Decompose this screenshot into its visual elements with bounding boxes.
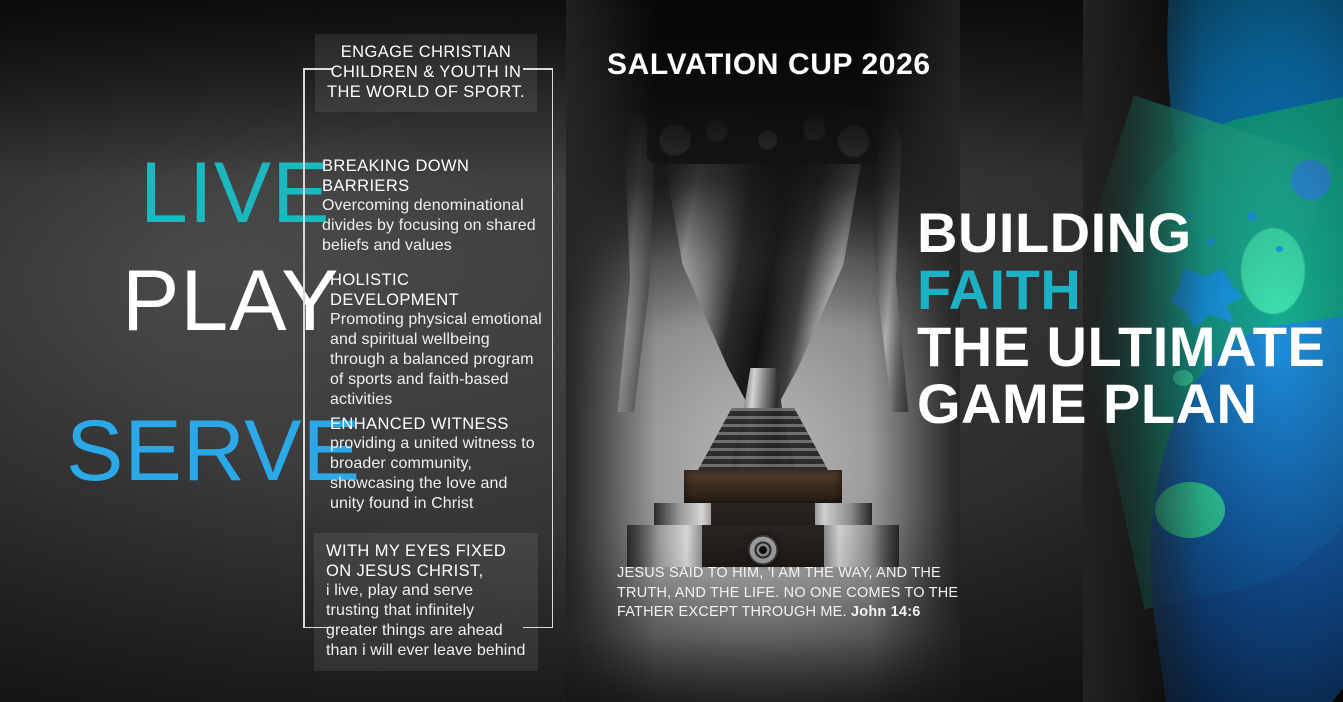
pillar-block-barriers: BREAKING DOWN BARRIERS Overcoming denomi… xyxy=(308,148,552,266)
pillar-block-holistic: HOLISTIC DEVELOPMENT Promoting physical … xyxy=(316,262,554,420)
keyword-play: PLAY xyxy=(122,258,340,344)
headline-line-1: BUILDING xyxy=(917,204,1325,261)
headline-line-4: GAME PLAN xyxy=(917,375,1325,432)
paint-blob xyxy=(1291,160,1331,200)
verse-reference: John 14:6 xyxy=(851,604,921,620)
mission-statement-block: ENGAGE CHRISTIAN CHILDREN & YOUTH IN THE… xyxy=(315,34,537,112)
slide-canvas: LIVE PLAY SERVE ENGAGE CHRISTIAN CHILDRE… xyxy=(0,0,1343,702)
pledge-heading: WITH MY EYES FIXED ON JESUS CHRIST, xyxy=(326,541,526,581)
headline-line-3: THE ULTIMATE xyxy=(917,318,1325,375)
headline-block: BUILDING FAITH THE ULTIMATE GAME PLAN xyxy=(917,204,1325,432)
keyword-live: LIVE xyxy=(140,150,330,236)
pillar-body: Overcoming denominational divides by foc… xyxy=(322,196,540,256)
page-title: SALVATION CUP 2026 xyxy=(607,48,931,82)
personal-pledge-block: WITH MY EYES FIXED ON JESUS CHRIST, i li… xyxy=(314,533,538,671)
mission-statement-heading: ENGAGE CHRISTIAN CHILDREN & YOUTH IN THE… xyxy=(327,42,525,102)
pillar-heading: HOLISTIC DEVELOPMENT xyxy=(330,270,542,310)
pledge-body: i live, play and serve trusting that inf… xyxy=(326,581,526,661)
pillar-body: Promoting physical emotional and spiritu… xyxy=(330,310,542,410)
paint-blob xyxy=(1157,498,1183,520)
pillar-heading: ENHANCED WITNESS xyxy=(330,414,542,434)
pillar-heading: BREAKING DOWN BARRIERS xyxy=(322,156,540,196)
scripture-verse: JESUS SAID TO HIM, 'I AM THE WAY, AND TH… xyxy=(617,564,967,623)
pillar-block-witness: ENHANCED WITNESS providing a united witn… xyxy=(316,406,554,524)
pillar-body: providing a united witness to broader co… xyxy=(330,434,542,514)
headline-line-2-faith: FAITH xyxy=(917,261,1325,318)
